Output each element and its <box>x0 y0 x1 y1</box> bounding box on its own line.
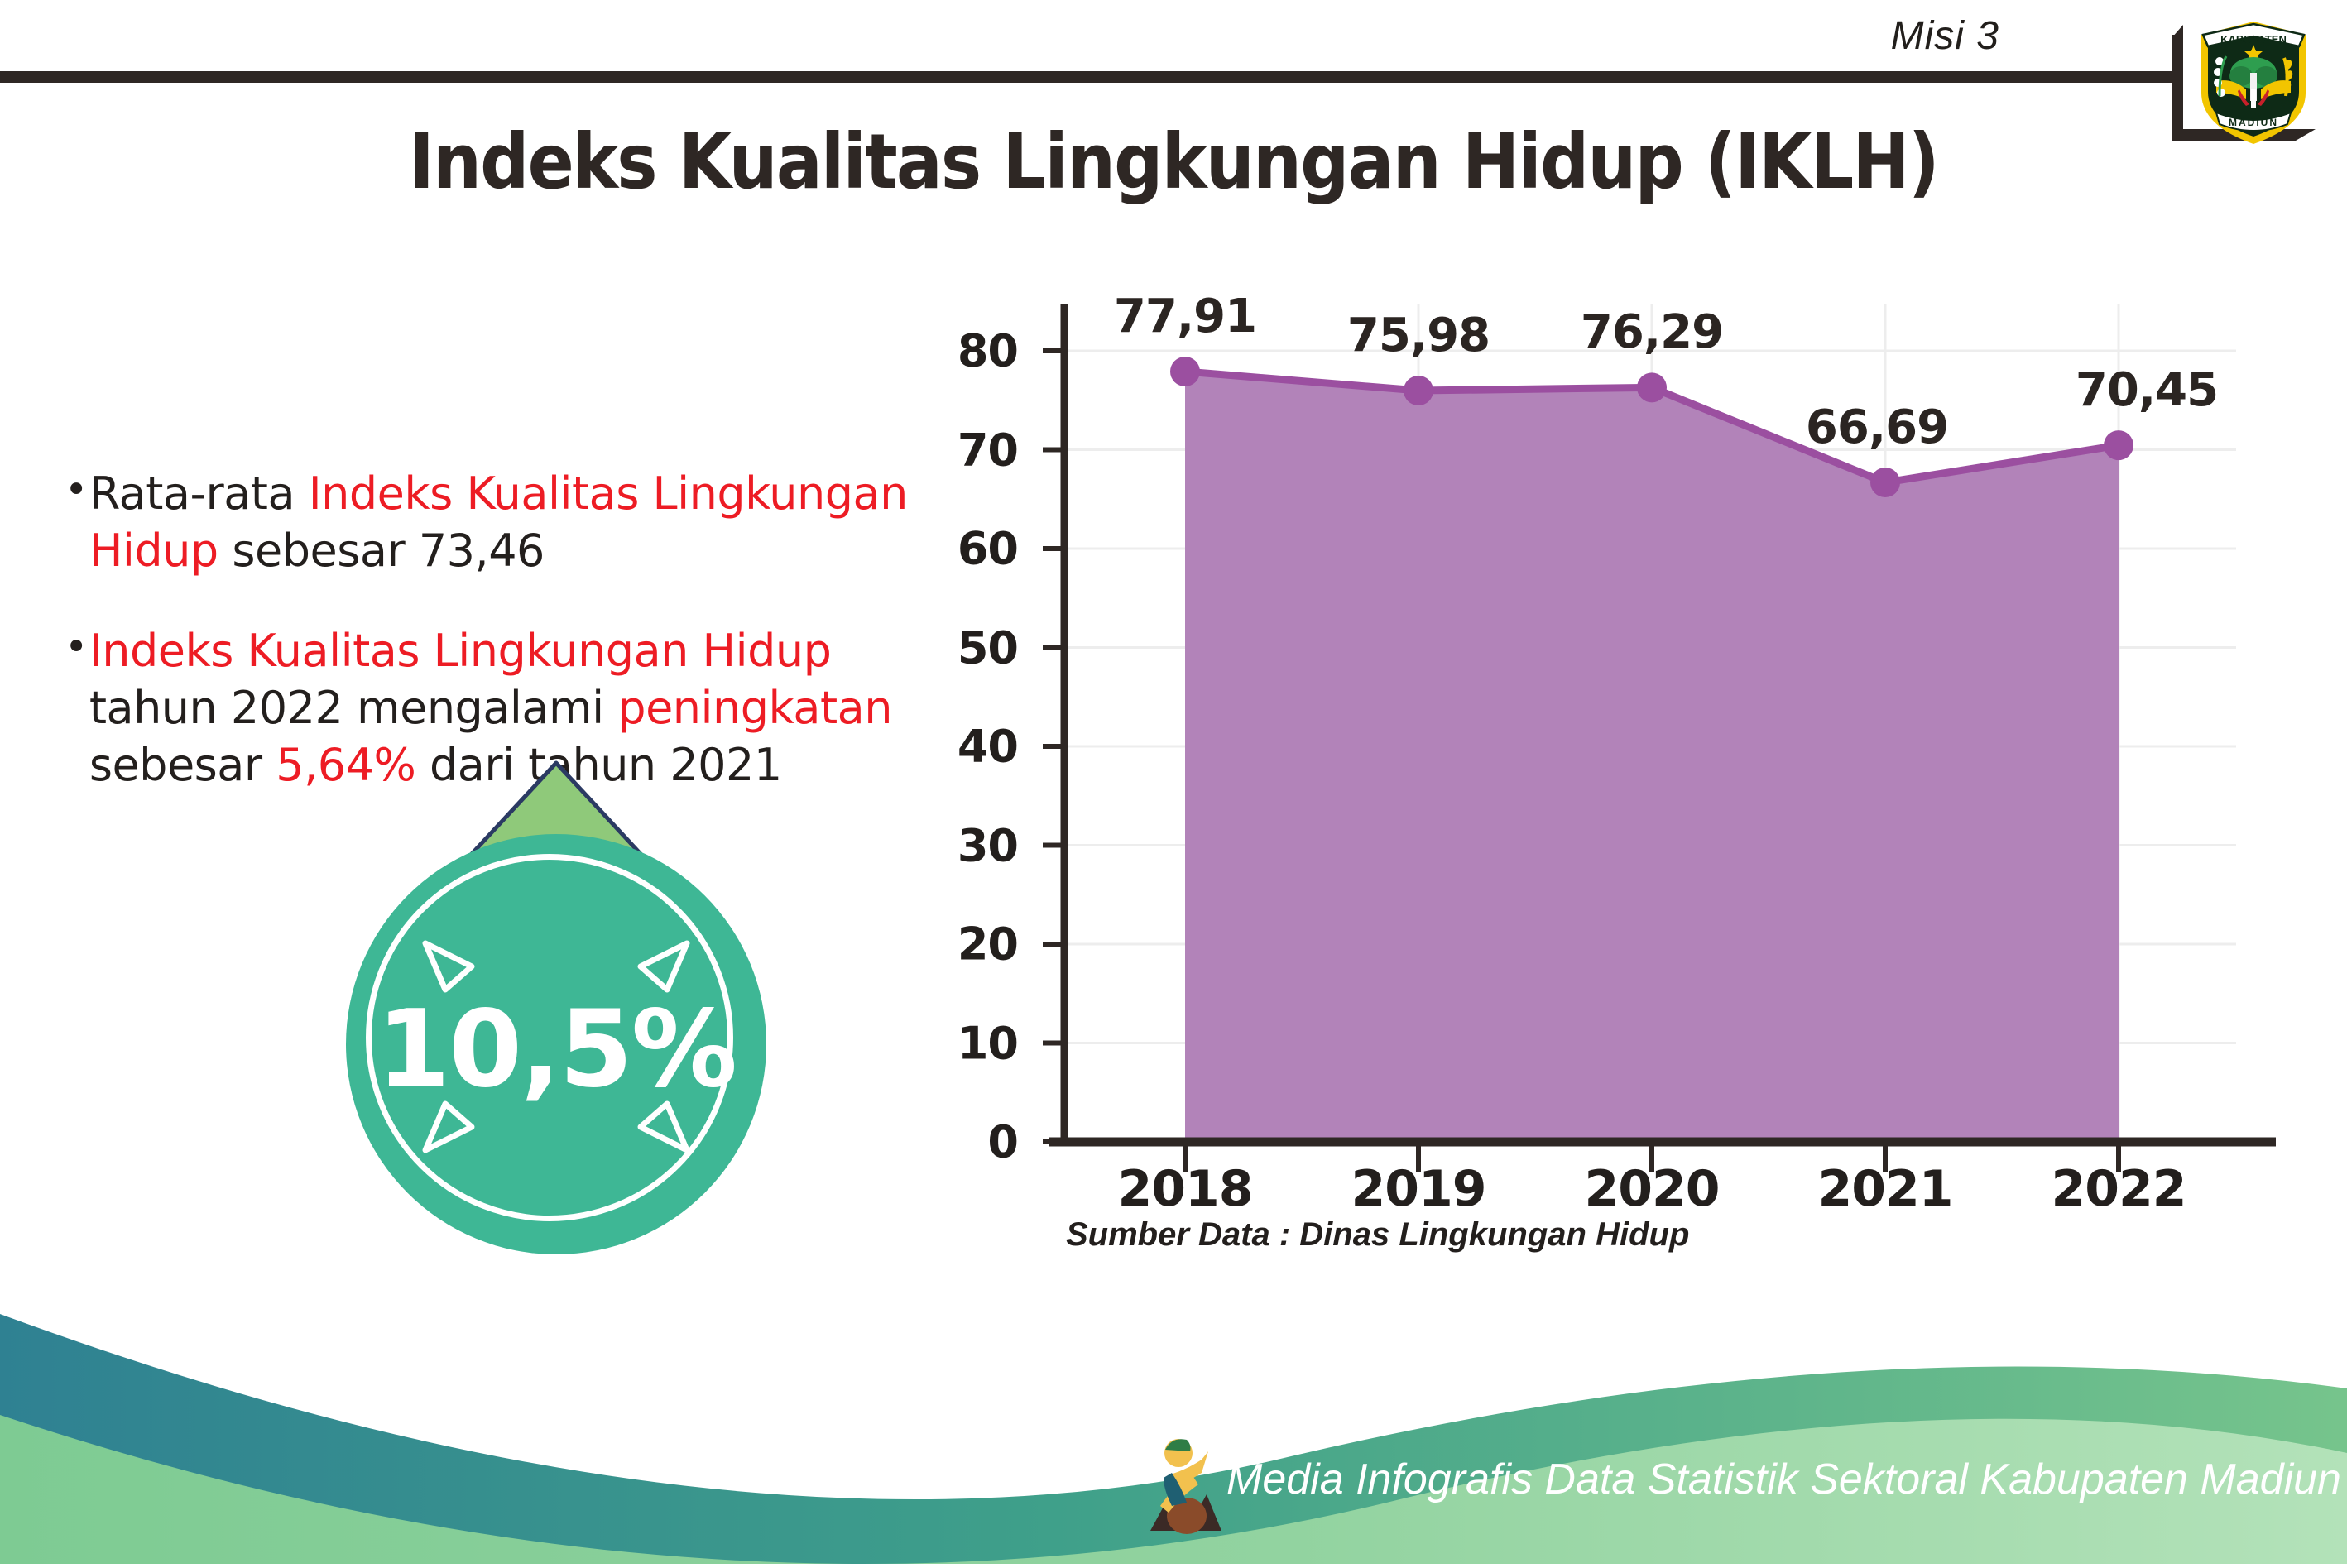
chart-area-fill <box>1185 372 2119 1142</box>
footer-text: Media Infografis Data Statistik Sektoral… <box>1226 1455 2347 1504</box>
badge-value: 10,5% <box>346 988 766 1111</box>
point-label: 66,69 <box>1806 400 1948 454</box>
y-tick-label: 0 <box>910 1116 1018 1168</box>
bullet-segment: Rata-rata <box>89 468 309 520</box>
y-tick-label: 60 <box>910 523 1018 575</box>
y-tick-label: 20 <box>910 918 1018 971</box>
point-label: 76,29 <box>1581 305 1723 359</box>
chart-marker <box>1637 372 1667 402</box>
chart-marker <box>2104 430 2133 460</box>
bullet-dot-icon: • <box>65 465 88 515</box>
x-tick-label: 2021 <box>1778 1160 1993 1218</box>
point-label: 77,91 <box>1114 290 1256 343</box>
y-tick-label: 70 <box>910 424 1018 476</box>
increase-badge: 10,5% <box>338 755 801 1268</box>
iklh-area-chart: 01020304050607080 20182019202020212022 7… <box>952 273 2292 1266</box>
point-label: 70,45 <box>2076 363 2218 417</box>
bullet-segment-highlight: Indeks Kualitas Lingkungan Hidup <box>89 625 832 677</box>
y-tick-label: 40 <box>910 721 1018 773</box>
footer: Media Infografis Data Statistik Sektoral… <box>0 1291 2347 1564</box>
svg-text:MADIUN: MADIUN <box>2229 117 2278 128</box>
bullet-segment-highlight: peningkatan <box>617 682 892 734</box>
infografis-person-icon <box>1135 1427 1226 1542</box>
page-title: Indeks Kualitas Lingkungan Hidup (IKLH) <box>118 117 2229 206</box>
svg-text:KABUPATEN: KABUPATEN <box>2220 33 2287 46</box>
y-tick-label: 50 <box>910 621 1018 674</box>
y-tick-label: 30 <box>910 819 1018 871</box>
y-tick-label: 80 <box>910 325 1018 377</box>
chart-source-note: Sumber Data : Dinas Lingkungan Hidup <box>1066 1216 1689 1254</box>
point-label: 75,98 <box>1347 309 1490 362</box>
bullet-dot-icon: • <box>65 622 88 673</box>
header-rule <box>0 71 2183 83</box>
chart-marker <box>1404 376 1433 405</box>
bullet-segment: sebesar 73,46 <box>218 525 545 577</box>
misi-label: Misi 3 <box>1891 13 1999 59</box>
bullet-item: • Rata-rata Indeks Kualitas Lingkungan H… <box>65 465 958 579</box>
chart-marker <box>1870 468 1900 497</box>
x-tick-label: 2018 <box>1078 1160 1293 1218</box>
bullet-text: Rata-rata Indeks Kualitas Lingkungan Hid… <box>89 465 958 579</box>
chart-canvas <box>952 273 2292 1266</box>
x-tick-label: 2020 <box>1544 1160 1759 1218</box>
x-tick-label: 2022 <box>2011 1160 2226 1218</box>
bullet-segment: sebesar <box>89 739 276 791</box>
chart-marker <box>1170 357 1200 386</box>
x-tick-label: 2019 <box>1311 1160 1526 1218</box>
y-tick-label: 10 <box>910 1017 1018 1069</box>
bullet-segment: tahun 2022 mengalami <box>89 682 617 734</box>
